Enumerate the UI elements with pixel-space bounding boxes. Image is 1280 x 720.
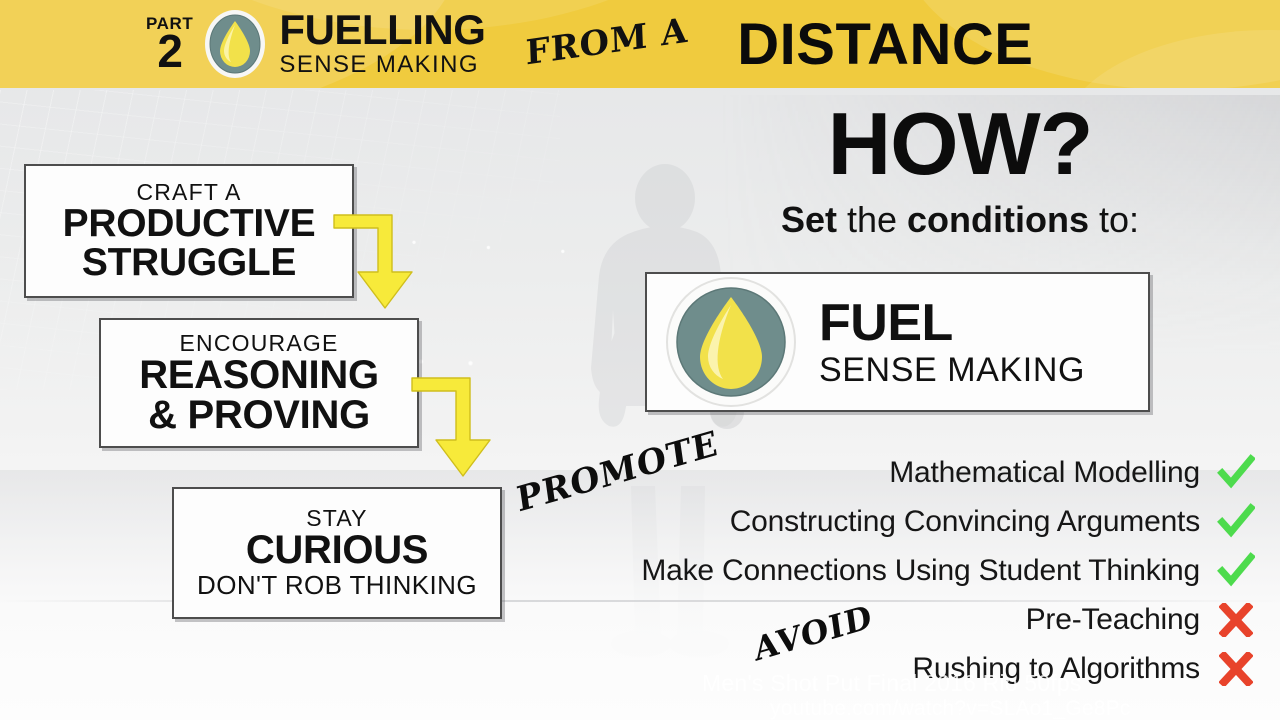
check-icon bbox=[1214, 552, 1258, 590]
card-bottom-label: DON'T ROB THINKING bbox=[197, 572, 477, 599]
list-item-label: Mathematical Modelling bbox=[889, 456, 1200, 490]
strategy-card-stay-curious: STAY CURIOUS DON'T ROB THINKING bbox=[172, 487, 502, 619]
video-source-watermark-line2: youtube.com/watch?v=SLAo1_Ge8Pc bbox=[770, 697, 1131, 720]
slide-canvas: PART 2 FUELLING SENSE MAKING FROM A DIST… bbox=[0, 0, 1280, 720]
strategy-card-productive-struggle: CRAFT A PRODUCTIVE STRUGGLE bbox=[24, 164, 354, 298]
card-big-label-1: CURIOUS bbox=[246, 530, 428, 570]
list-item: Make Connections Using Student Thinking bbox=[500, 546, 1280, 595]
card-small-label: CRAFT A bbox=[136, 180, 241, 204]
fuel-droplet-icon bbox=[665, 271, 797, 413]
list-item-label: Make Connections Using Student Thinking bbox=[641, 554, 1200, 588]
fuel-droplet-icon bbox=[203, 8, 267, 80]
elbow-arrow-down-icon bbox=[330, 200, 440, 315]
header-title-sub: SENSE MAKING bbox=[279, 53, 485, 77]
strategy-card-reasoning-proving: ENCOURAGE REASONING & PROVING bbox=[99, 318, 419, 448]
header-distance: DISTANCE bbox=[737, 11, 1033, 78]
video-source-watermark-line1: Men's Shot Put Final 2016 Rio 50fps bbox=[702, 670, 1082, 697]
card-big-label-1: PRODUCTIVE bbox=[63, 204, 316, 243]
cross-icon bbox=[1214, 652, 1258, 686]
header-title-main: FUELLING bbox=[279, 9, 485, 51]
fuel-sense-making-card: FUEL SENSE MAKING bbox=[645, 272, 1150, 412]
subtitle-mid: the bbox=[837, 199, 907, 240]
fuel-card-title: FUEL bbox=[819, 297, 1085, 349]
title-bar: PART 2 FUELLING SENSE MAKING FROM A DIST… bbox=[0, 0, 1280, 88]
subtitle-suffix: to: bbox=[1089, 199, 1139, 240]
card-big-label-1: REASONING bbox=[139, 355, 379, 395]
check-icon bbox=[1214, 503, 1258, 541]
fuel-card-text: FUEL SENSE MAKING bbox=[819, 297, 1085, 387]
list-item: Constructing Convincing Arguments bbox=[500, 497, 1280, 546]
cross-icon bbox=[1214, 603, 1258, 637]
card-small-label: STAY bbox=[306, 506, 367, 530]
subtitle-bold-set: Set bbox=[781, 199, 837, 240]
subtitle-bold-conditions: conditions bbox=[907, 199, 1089, 240]
card-big-label-2: & PROVING bbox=[148, 395, 370, 435]
part-indicator: PART 2 bbox=[146, 15, 193, 74]
part-number: 2 bbox=[157, 28, 182, 74]
card-small-label: ENCOURAGE bbox=[179, 331, 338, 355]
check-icon bbox=[1214, 454, 1258, 492]
fuel-card-subtitle: SENSE MAKING bbox=[819, 353, 1085, 387]
header-title-group: FUELLING SENSE MAKING bbox=[279, 9, 485, 77]
list-item: Pre-Teaching bbox=[500, 595, 1280, 644]
list-item-label: Pre-Teaching bbox=[1026, 603, 1200, 637]
header-from-a: FROM A bbox=[526, 10, 690, 73]
card-big-label-2: STRUGGLE bbox=[82, 243, 296, 282]
page-title-how: HOW? bbox=[640, 100, 1280, 188]
subtitle-set-conditions: Set the conditions to: bbox=[640, 200, 1280, 240]
list-item-label: Constructing Convincing Arguments bbox=[730, 505, 1200, 539]
